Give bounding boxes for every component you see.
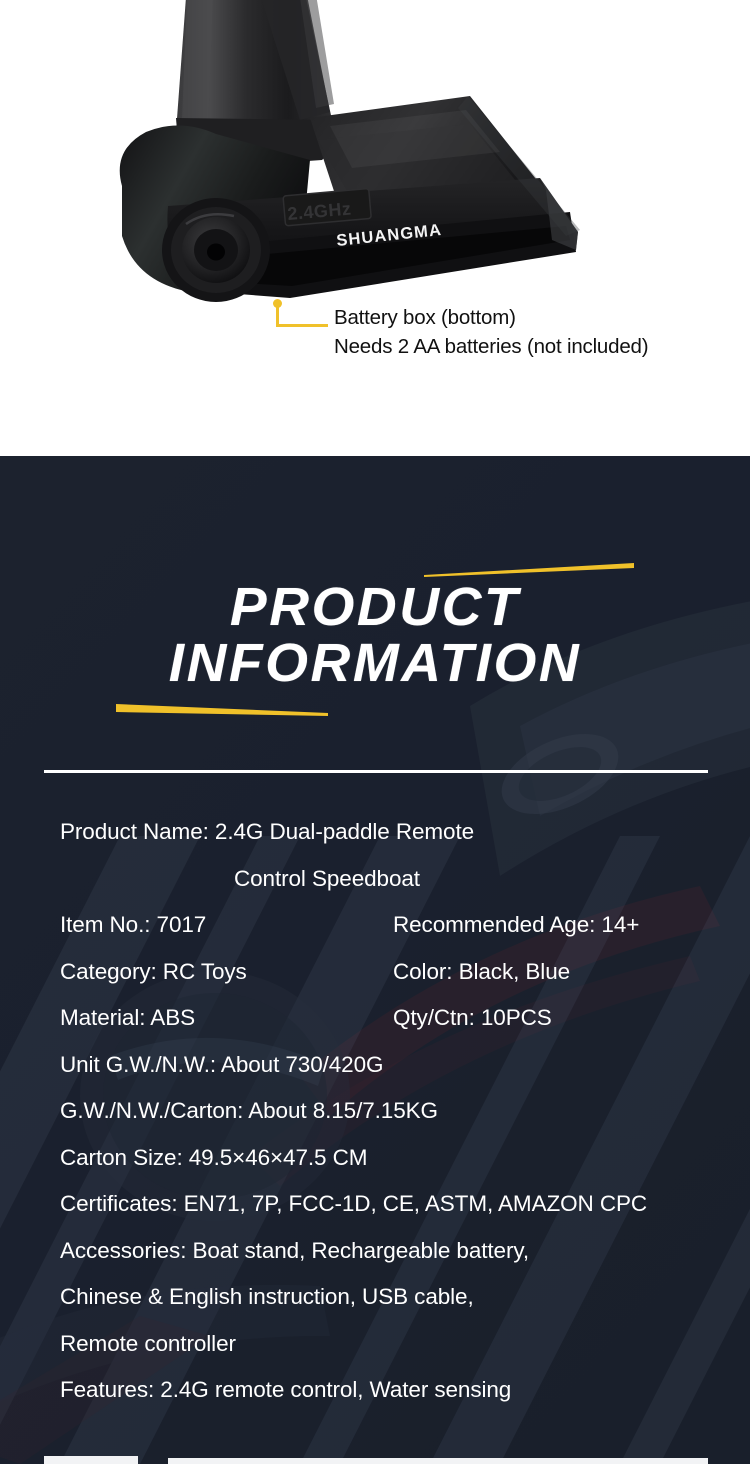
remote-controller-photo: 2.4GHz SHUANGMA <box>0 0 750 456</box>
spec-row-features: Features: 2.4G remote control, Water sen… <box>0 1374 750 1421</box>
spec-accessories-line-3: Remote controller <box>60 1328 236 1360</box>
spec-row-product-name: Product Name: 2.4G Dual-paddle Remote <box>0 816 750 863</box>
next-section-panel-right <box>168 1458 708 1464</box>
spec-accessories-line-2: Chinese & English instruction, USB cable… <box>60 1281 474 1313</box>
spec-category: Category: RC Toys <box>60 956 247 988</box>
spec-accessories-line-1: Accessories: Boat stand, Rechargeable ba… <box>60 1235 529 1267</box>
spec-material: Material: ABS <box>60 1002 195 1034</box>
spec-row-carton-weight: G.W./N.W./Carton: About 8.15/7.15KG <box>0 1095 750 1142</box>
next-section-peek <box>0 1456 750 1464</box>
callout-line-1: Battery box (bottom) <box>334 303 648 332</box>
spec-row-material-qty: Material: ABS Qty/Ctn: 10PCS <box>0 1002 750 1049</box>
section-divider <box>44 770 708 773</box>
callout-line-2: Needs 2 AA batteries (not included) <box>334 332 648 361</box>
spec-row-product-name-cont: Control Speedboat <box>0 863 750 910</box>
spec-row-certificates: Certificates: EN71, 7P, FCC-1D, CE, ASTM… <box>0 1188 750 1235</box>
spec-gw-nw-carton: G.W./N.W./Carton: About 8.15/7.15KG <box>60 1095 438 1127</box>
spec-features: Features: 2.4G remote control, Water sen… <box>60 1374 511 1406</box>
product-information-section: PRODUCT INFORMATION Product Name: 2.4G D… <box>0 456 750 1464</box>
callout-leader-horizontal <box>276 324 328 327</box>
section-title-block: PRODUCT INFORMATION <box>0 556 750 726</box>
product-photo-section: 2.4GHz SHUANGMA Battery box (bottom) Nee… <box>0 0 750 456</box>
spec-unit-gw-nw: Unit G.W./N.W.: About 730/420G <box>60 1049 383 1081</box>
spec-row-accessories-3: Remote controller <box>0 1328 750 1375</box>
spec-item-no: Item No.: 7017 <box>60 909 206 941</box>
callout-leader-vertical <box>276 304 279 326</box>
next-section-panel-left <box>44 1456 138 1464</box>
spec-row-category-color: Category: RC Toys Color: Black, Blue <box>0 956 750 1003</box>
callout-text-block: Battery box (bottom) Needs 2 AA batterie… <box>334 303 648 361</box>
accent-line-top <box>424 563 634 577</box>
spec-carton-size: Carton Size: 49.5×46×47.5 CM <box>60 1142 367 1174</box>
title-line-information: INFORMATION <box>0 634 750 692</box>
spec-product-name: Product Name: 2.4G Dual-paddle Remote <box>60 816 474 848</box>
spec-row-accessories-1: Accessories: Boat stand, Rechargeable ba… <box>0 1235 750 1282</box>
battery-box-callout: Battery box (bottom) Needs 2 AA batterie… <box>268 296 738 376</box>
title-line-product: PRODUCT <box>0 578 750 636</box>
spec-row-accessories-2: Chinese & English instruction, USB cable… <box>0 1281 750 1328</box>
accent-line-bottom <box>116 702 328 716</box>
spec-row-unit-weight: Unit G.W./N.W.: About 730/420G <box>0 1049 750 1096</box>
spec-certificates: Certificates: EN71, 7P, FCC-1D, CE, ASTM… <box>60 1188 647 1220</box>
spec-product-name-continued: Control Speedboat <box>234 863 420 895</box>
specifications-list: Product Name: 2.4G Dual-paddle Remote Co… <box>0 816 750 1421</box>
spec-qty-ctn: Qty/Ctn: 10PCS <box>393 1002 552 1034</box>
product-information-page: 2.4GHz SHUANGMA Battery box (bottom) Nee… <box>0 0 750 1464</box>
spec-recommended-age: Recommended Age: 14+ <box>393 909 639 941</box>
spec-row-item-age: Item No.: 7017 Recommended Age: 14+ <box>0 909 750 956</box>
spec-row-carton-size: Carton Size: 49.5×46×47.5 CM <box>0 1142 750 1189</box>
spec-color: Color: Black, Blue <box>393 956 570 988</box>
